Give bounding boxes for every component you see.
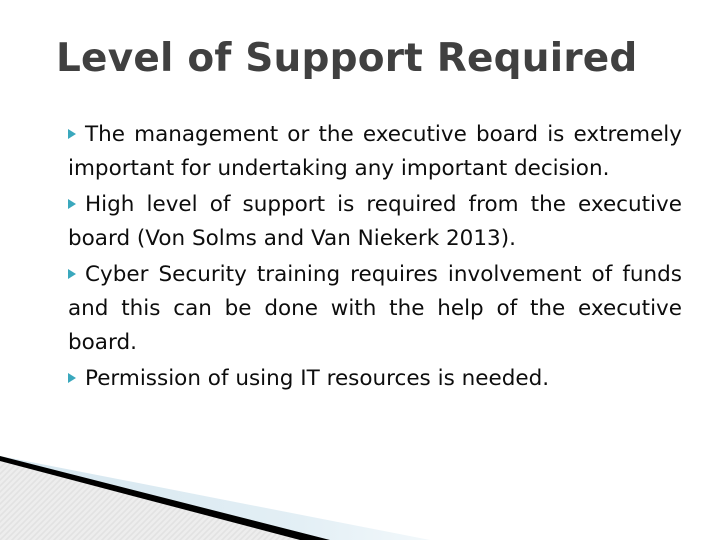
triangle-right-bullet-icon — [68, 373, 76, 383]
triangle-right-bullet-icon — [68, 269, 76, 279]
blue-band-shape — [0, 456, 430, 540]
diagonal-footer-banner — [0, 450, 720, 540]
triangle-right-bullet-icon — [68, 199, 76, 209]
list-item-text: The management or the executive board is… — [68, 122, 682, 181]
list-item-text: High level of support is required from t… — [68, 192, 682, 251]
page-title: Level of Support Required — [56, 38, 686, 81]
list-item-text: Permission of using IT resources is need… — [85, 366, 549, 391]
slide-canvas: Level of Support Required The management… — [0, 0, 720, 540]
list-item: Permission of using IT resources is need… — [68, 362, 682, 396]
list-item: High level of support is required from t… — [68, 188, 682, 256]
bullet-list: The management or the executive board is… — [68, 118, 682, 398]
list-item: The management or the executive board is… — [68, 118, 682, 186]
triangle-right-bullet-icon — [68, 129, 76, 139]
list-item-text: Cyber Security training requires involve… — [68, 262, 682, 355]
gray-textured-wedge-shape — [0, 461, 300, 540]
black-wedge-shape — [0, 456, 330, 540]
list-item: Cyber Security training requires involve… — [68, 258, 682, 360]
